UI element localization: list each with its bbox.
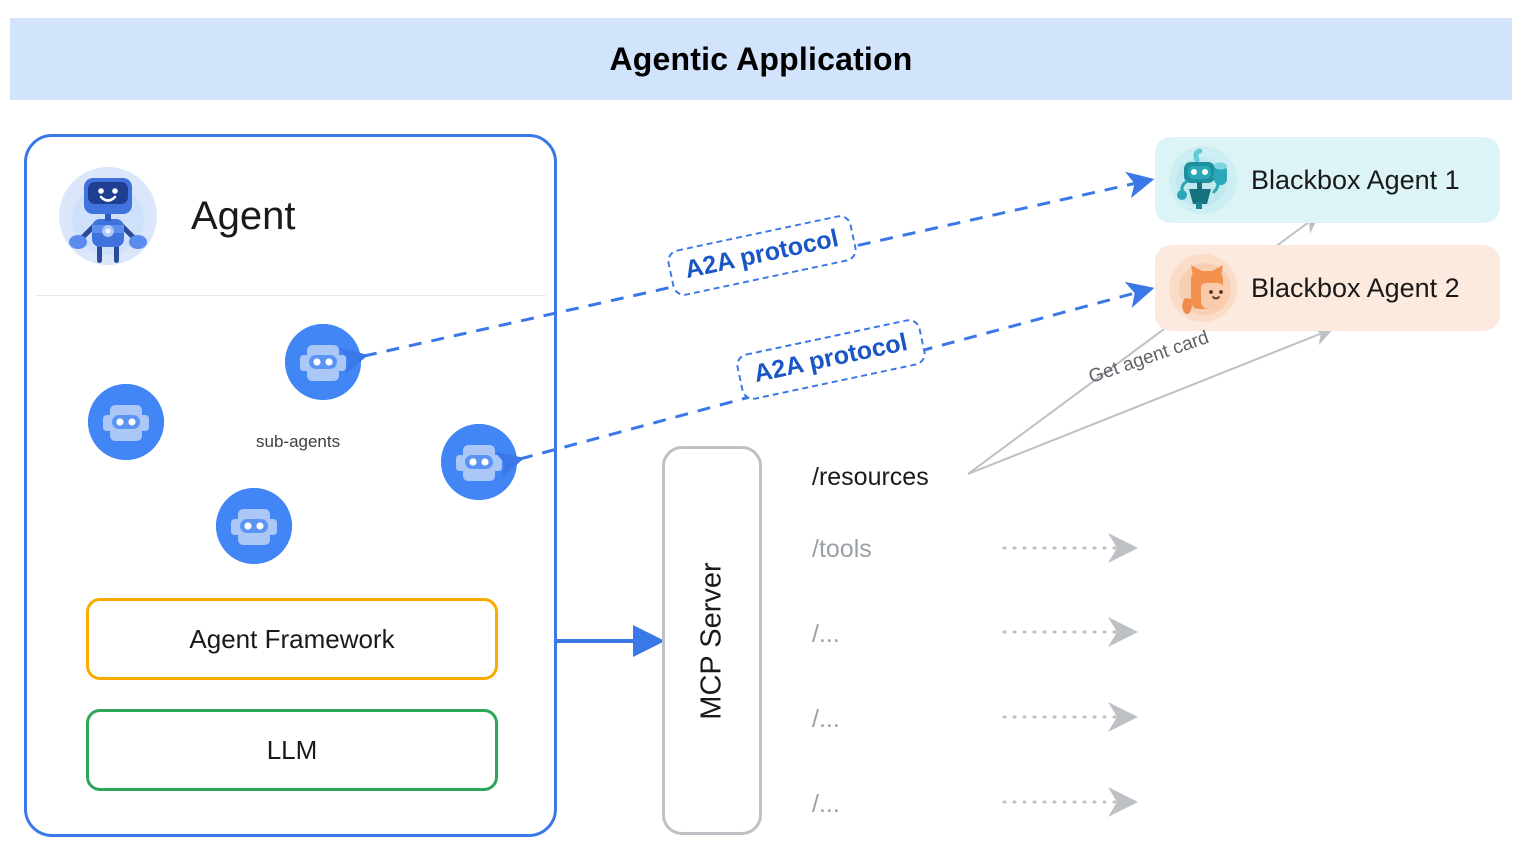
agent-framework-label: Agent Framework (189, 624, 394, 655)
sub-agent-robot-icon[interactable] (441, 424, 517, 500)
blackbox-agent-2-label: Blackbox Agent 2 (1251, 273, 1460, 304)
sub-agents-label: sub-agents (256, 432, 340, 452)
agent-card-header: Agent (27, 137, 554, 295)
orange-cat-icon (1169, 254, 1237, 322)
endpoint-dotted-arrows (1004, 548, 1132, 802)
mcp-server-box[interactable]: MCP Server (662, 446, 762, 835)
endpoint-row[interactable]: /resources (812, 460, 1212, 494)
endpoint-label-other-2: /... (812, 705, 972, 734)
endpoint-label-other-1: /... (812, 620, 972, 649)
header-banner: Agentic Application (10, 18, 1512, 100)
agent-card-divider (35, 295, 546, 296)
get-agent-card-label: Get agent card (1086, 327, 1212, 389)
endpoint-row[interactable]: /... (812, 617, 1212, 651)
endpoint-label-other-3: /... (812, 790, 972, 819)
sub-agent-robot-icon[interactable] (88, 384, 164, 460)
a2a-protocol-chip-1: A2A protocol (665, 213, 859, 298)
agent-framework-box[interactable]: Agent Framework (86, 598, 498, 680)
page-title: Agentic Application (609, 41, 912, 78)
blackbox-agent-1-label: Blackbox Agent 1 (1251, 165, 1460, 196)
robot-avatar-icon (59, 167, 157, 265)
agent-card-title: Agent (191, 194, 296, 239)
blackbox-agent-1-card[interactable]: Blackbox Agent 1 (1155, 137, 1500, 223)
blackbox-agent-2-card[interactable]: Blackbox Agent 2 (1155, 245, 1500, 331)
endpoint-label-resources: /resources (812, 463, 972, 492)
teal-robot-icon (1169, 146, 1237, 214)
sub-agent-robot-icon[interactable] (285, 324, 361, 400)
sub-agent-robot-icon[interactable] (216, 488, 292, 564)
llm-box[interactable]: LLM (86, 709, 498, 791)
mcp-server-label: MCP Server (696, 562, 729, 719)
endpoint-row[interactable]: /... (812, 787, 1212, 821)
llm-label: LLM (267, 735, 318, 766)
a2a-protocol-chip-2: A2A protocol (734, 317, 928, 402)
endpoint-row[interactable]: /tools (812, 532, 1212, 566)
endpoint-row[interactable]: /... (812, 702, 1212, 736)
endpoint-label-tools: /tools (812, 535, 972, 564)
diagram-canvas: Agentic Application (0, 0, 1524, 864)
